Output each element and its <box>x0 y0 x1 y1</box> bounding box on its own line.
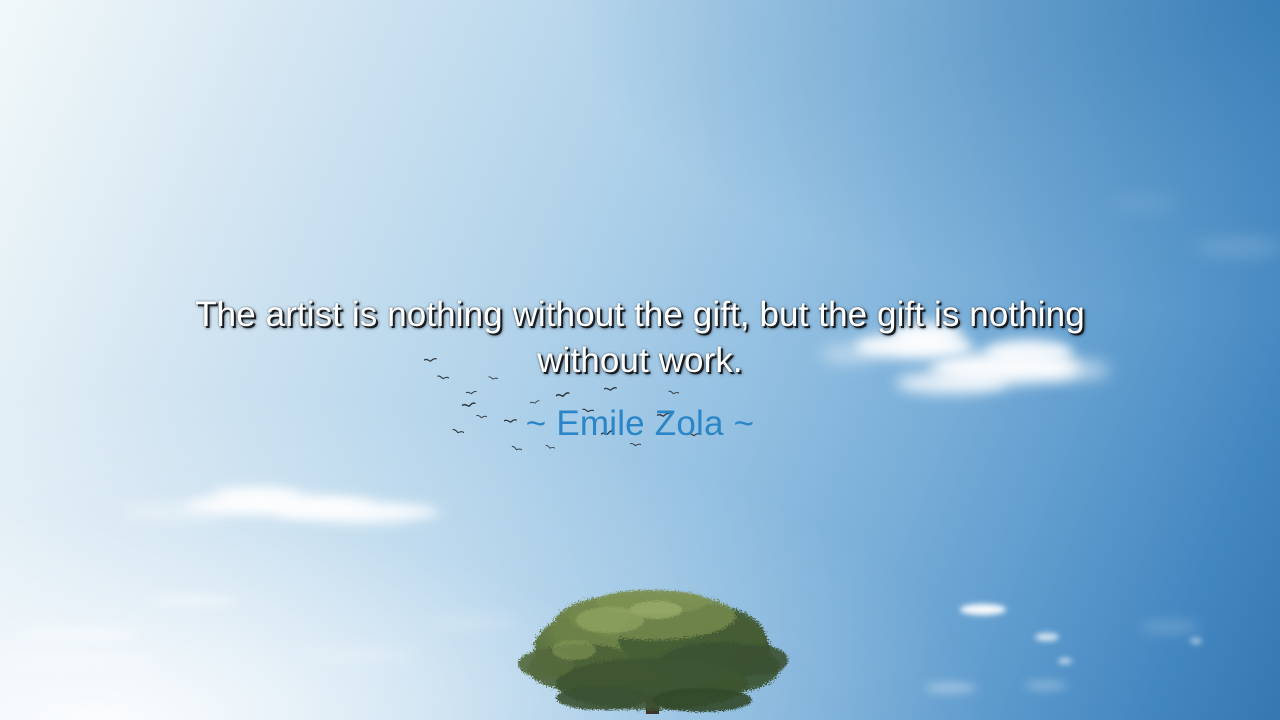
quote-image-canvas: The artist is nothing without the gift, … <box>0 0 1280 720</box>
oak-tree-image <box>506 586 798 720</box>
quote-text: The artist is nothing without the gift, … <box>190 292 1090 384</box>
quote-author: ~ Emile Zola ~ <box>190 403 1090 445</box>
bird-icon <box>544 444 555 453</box>
bird-icon <box>510 444 523 454</box>
quote-overlay: The artist is nothing without the gift, … <box>0 292 1280 445</box>
